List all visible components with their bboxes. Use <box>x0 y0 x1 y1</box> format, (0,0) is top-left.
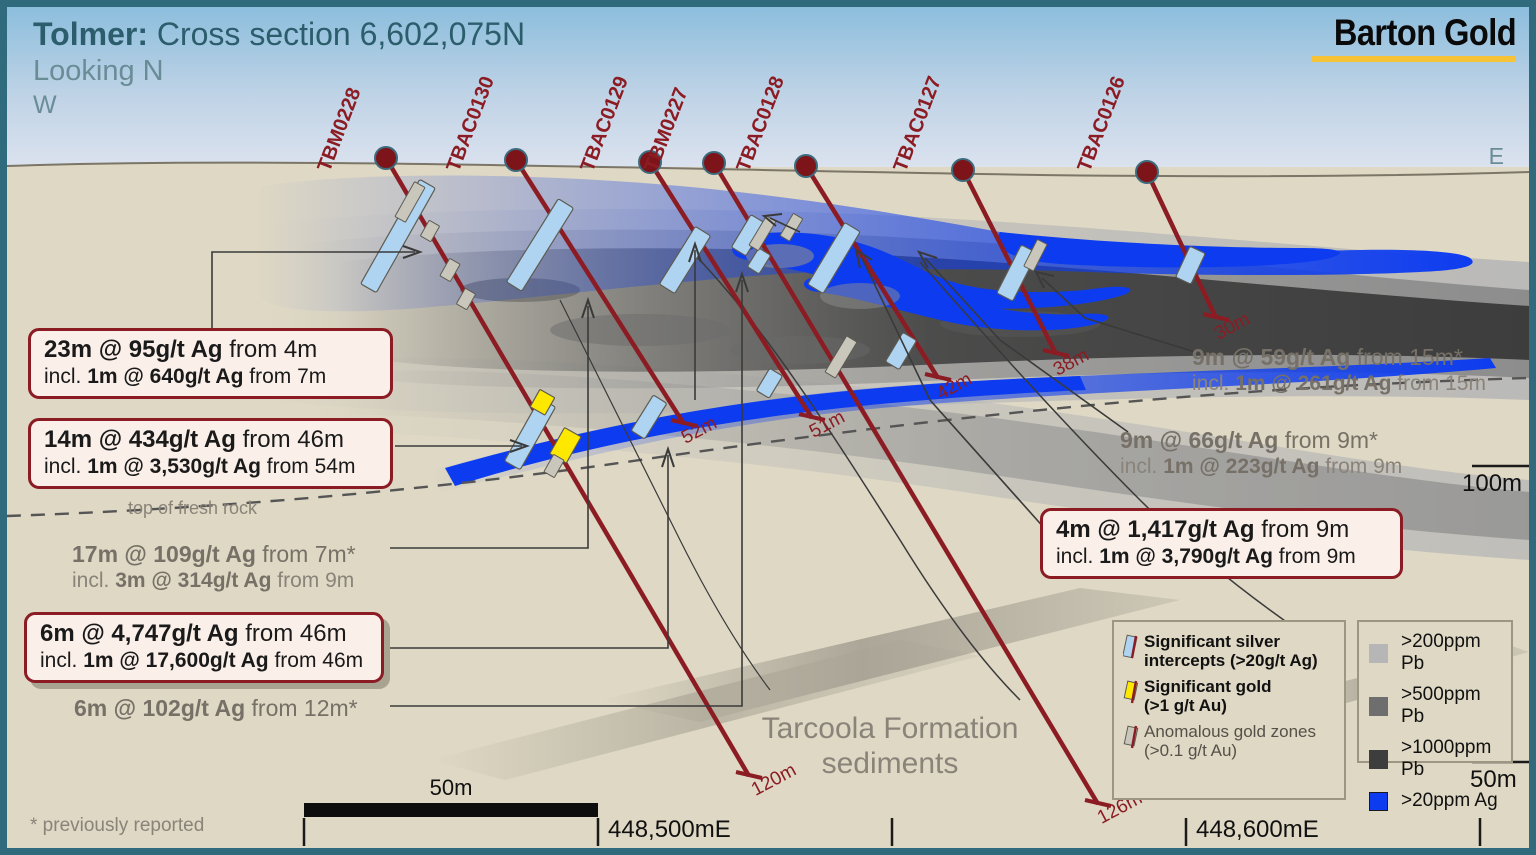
ag20-label: >20ppm Ag <box>1401 790 1498 812</box>
gold-intercept-icon <box>1123 677 1144 710</box>
ag20-swatch <box>1369 792 1388 811</box>
callout-c8-interval: 4m @ 1,417g/t Ag <box>1056 516 1255 543</box>
scale-bar-rule <box>304 803 598 817</box>
legend-anomalous-line2: (>0.1 g/t Au) <box>1144 741 1316 760</box>
pb1000-label: >1000ppm Pb <box>1401 737 1503 781</box>
top-of-fresh-rock-label: top of fresh rock <box>128 498 257 519</box>
callout-c1-interval: 23m @ 95g/t Ag <box>44 336 223 363</box>
callout-c8-incl-interval: 1m @ 3,790g/t Ag <box>1099 545 1273 568</box>
callout-c6-incl-prefix: incl. <box>1192 372 1235 395</box>
legend-gold-text: Significant gold (>1 g/t Au) <box>1144 677 1272 715</box>
callout-c4-line2: incl. 1m @ 17,600g/t Ag from 46m <box>40 649 368 673</box>
callout-c8: 4m @ 1,417g/t Ag from 9mincl. 1m @ 3,790… <box>1040 508 1403 579</box>
callout-c1-incl-from: from 7m <box>243 365 326 388</box>
legend-item-gold: Significant gold (>1 g/t Au) <box>1123 677 1336 715</box>
callout-c7-incl-interval: 1m @ 223g/t Ag <box>1163 455 1319 478</box>
logo-underline <box>1311 56 1516 62</box>
callout-c8-from: from 9m <box>1255 516 1350 543</box>
callout-c6-from: from 15m* <box>1350 344 1462 370</box>
callout-c3-from: from 7m* <box>256 541 356 567</box>
callout-c7-interval: 9m @ 66g/t Ag <box>1120 427 1278 453</box>
callout-c2-line1: 14m @ 434g/t Ag from 46m <box>44 427 377 454</box>
pb200-swatch <box>1369 644 1388 663</box>
callout-c4-incl-prefix: incl. <box>40 649 83 672</box>
title-bold-part: Tolmer: <box>33 16 148 52</box>
easting-label-right: 448,600mE <box>1196 816 1319 844</box>
callout-c7-incl-from: from 9m <box>1319 455 1402 478</box>
callout-c8-line2: incl. 1m @ 3,790g/t Ag from 9m <box>1056 545 1387 569</box>
callout-c7-line1: 9m @ 66g/t Ag from 9m* <box>1120 428 1402 454</box>
silver-intercept-icon <box>1123 632 1144 665</box>
pb500-label: >500ppm Pb <box>1401 684 1503 728</box>
callout-c3: 17m @ 109g/t Ag from 7m*incl. 3m @ 314g/… <box>72 542 356 592</box>
east-marker: E <box>1489 143 1504 170</box>
legend-color-pb500: >500ppm Pb <box>1369 684 1503 728</box>
page-title: Tolmer: Cross section 6,602,075N <box>33 16 525 53</box>
west-marker: W <box>33 91 525 120</box>
callout-c3-incl-prefix: incl. <box>72 569 115 592</box>
callout-c3-line2: incl. 3m @ 314g/t Ag from 9m <box>72 569 356 593</box>
callout-c8-incl-from: from 9m <box>1273 545 1356 568</box>
legend-silver-text: Significant silver intercepts (>20g/t Ag… <box>1144 632 1318 670</box>
cross-section-figure: Tolmer: Cross section 6,602,075N Looking… <box>0 0 1536 855</box>
legend-anomalous-line1: Anomalous gold zones <box>1144 722 1316 741</box>
logo-wordmark: Barton Gold <box>1334 12 1516 54</box>
callout-c3-line1: 17m @ 109g/t Ag from 7m* <box>72 542 356 568</box>
callout-c1-incl-prefix: incl. <box>44 365 87 388</box>
pb500-swatch <box>1369 697 1388 716</box>
legend-color-ag20: >20ppm Ag <box>1369 790 1503 812</box>
callout-c8-line1: 4m @ 1,417g/t Ag from 9m <box>1056 517 1387 544</box>
title-block: Tolmer: Cross section 6,602,075N Looking… <box>33 16 525 120</box>
callout-c1: 23m @ 95g/t Ag from 4mincl. 1m @ 640g/t … <box>28 328 393 399</box>
anomalous-gold-icon <box>1123 722 1144 755</box>
formation-line-1: Tarcoola Formation <box>740 712 1040 747</box>
callout-c6-interval: 9m @ 59g/t Ag <box>1192 344 1350 370</box>
callout-c7-from: from 9m* <box>1278 427 1378 453</box>
callout-c4-incl-from: from 46m <box>269 649 364 672</box>
callout-c1-line2: incl. 1m @ 640g/t Ag from 7m <box>44 365 377 389</box>
title-rest-part: Cross section 6,602,075N <box>157 16 525 52</box>
callout-c6: 9m @ 59g/t Ag from 15m*incl. 1m @ 261g/t… <box>1192 345 1486 395</box>
callout-c6-line1: 9m @ 59g/t Ag from 15m* <box>1192 345 1486 371</box>
depth-label-100m: 100m <box>1462 470 1522 498</box>
callout-c7-line2: incl. 1m @ 223g/t Ag from 9m <box>1120 455 1402 479</box>
legend-color-pb200: >200ppm Pb <box>1369 631 1503 675</box>
callout-c3-interval: 17m @ 109g/t Ag <box>72 541 256 567</box>
legend-item-silver: Significant silver intercepts (>20g/t Ag… <box>1123 632 1336 670</box>
legend-gold-line2: (>1 g/t Au) <box>1144 696 1272 715</box>
callout-c2-line2: incl. 1m @ 3,530g/t Ag from 54m <box>44 455 377 479</box>
barton-gold-logo: Barton Gold <box>1309 12 1516 62</box>
callout-c5-line1: 6m @ 102g/t Ag from 12m* <box>74 696 358 722</box>
callout-c1-incl-interval: 1m @ 640g/t Ag <box>87 365 243 388</box>
callout-c6-line2: incl. 1m @ 261g/t Ag from 15m <box>1192 372 1486 396</box>
scale-bar: 50m <box>304 775 598 817</box>
easting-label-left: 448,500mE <box>608 816 731 844</box>
callout-c2-from: from 46m <box>236 426 344 453</box>
callout-c2-incl-interval: 1m @ 3,530g/t Ag <box>87 455 261 478</box>
callout-c5-interval: 6m @ 102g/t Ag <box>74 695 245 721</box>
legend-gold-line1: Significant gold <box>1144 677 1272 696</box>
callout-c3-incl-interval: 3m @ 314g/t Ag <box>115 569 271 592</box>
scale-bar-label: 50m <box>304 775 598 801</box>
previously-reported-note: * previously reported <box>30 815 204 837</box>
callout-c6-incl-interval: 1m @ 261g/t Ag <box>1235 372 1391 395</box>
legend-silver-line1: Significant silver <box>1144 632 1318 651</box>
callout-c5-from: from 12m* <box>245 695 357 721</box>
legend-color-pb1000: >1000ppm Pb <box>1369 737 1503 781</box>
subtitle: Looking N <box>33 55 525 88</box>
legend-silver-line2: intercepts (>20g/t Ag) <box>1144 651 1318 670</box>
callout-c4: 6m @ 4,747g/t Ag from 46mincl. 1m @ 17,6… <box>24 612 384 683</box>
callout-c2: 14m @ 434g/t Ag from 46mincl. 1m @ 3,530… <box>28 418 393 489</box>
callout-c4-line1: 6m @ 4,747g/t Ag from 46m <box>40 621 368 648</box>
callout-c2-incl-prefix: incl. <box>44 455 87 478</box>
callout-c1-line1: 23m @ 95g/t Ag from 4m <box>44 337 377 364</box>
callout-c8-incl-prefix: incl. <box>1056 545 1099 568</box>
callout-c5: 6m @ 102g/t Ag from 12m* <box>74 696 358 722</box>
legend-symbols-panel: Significant silver intercepts (>20g/t Ag… <box>1112 620 1346 800</box>
callout-c3-incl-from: from 9m <box>271 569 354 592</box>
pb1000-swatch <box>1369 750 1388 769</box>
callout-c4-from: from 46m <box>239 620 347 647</box>
callout-c4-interval: 6m @ 4,747g/t Ag <box>40 620 239 647</box>
legend-anomalous-text: Anomalous gold zones (>0.1 g/t Au) <box>1144 722 1316 760</box>
callout-c2-interval: 14m @ 434g/t Ag <box>44 426 236 453</box>
legend-colors-panel: >200ppm Pb >500ppm Pb >1000ppm Pb >20ppm… <box>1357 620 1513 763</box>
callout-c4-incl-interval: 1m @ 17,600g/t Ag <box>83 649 268 672</box>
callout-c1-from: from 4m <box>223 336 318 363</box>
callout-c7-incl-prefix: incl. <box>1120 455 1163 478</box>
legend-item-anomalous: Anomalous gold zones (>0.1 g/t Au) <box>1123 722 1336 760</box>
callout-c7: 9m @ 66g/t Ag from 9m*incl. 1m @ 223g/t … <box>1120 428 1402 478</box>
callout-c6-incl-from: from 15m <box>1391 372 1486 395</box>
pb200-label: >200ppm Pb <box>1401 631 1503 675</box>
callout-c2-incl-from: from 54m <box>261 455 356 478</box>
